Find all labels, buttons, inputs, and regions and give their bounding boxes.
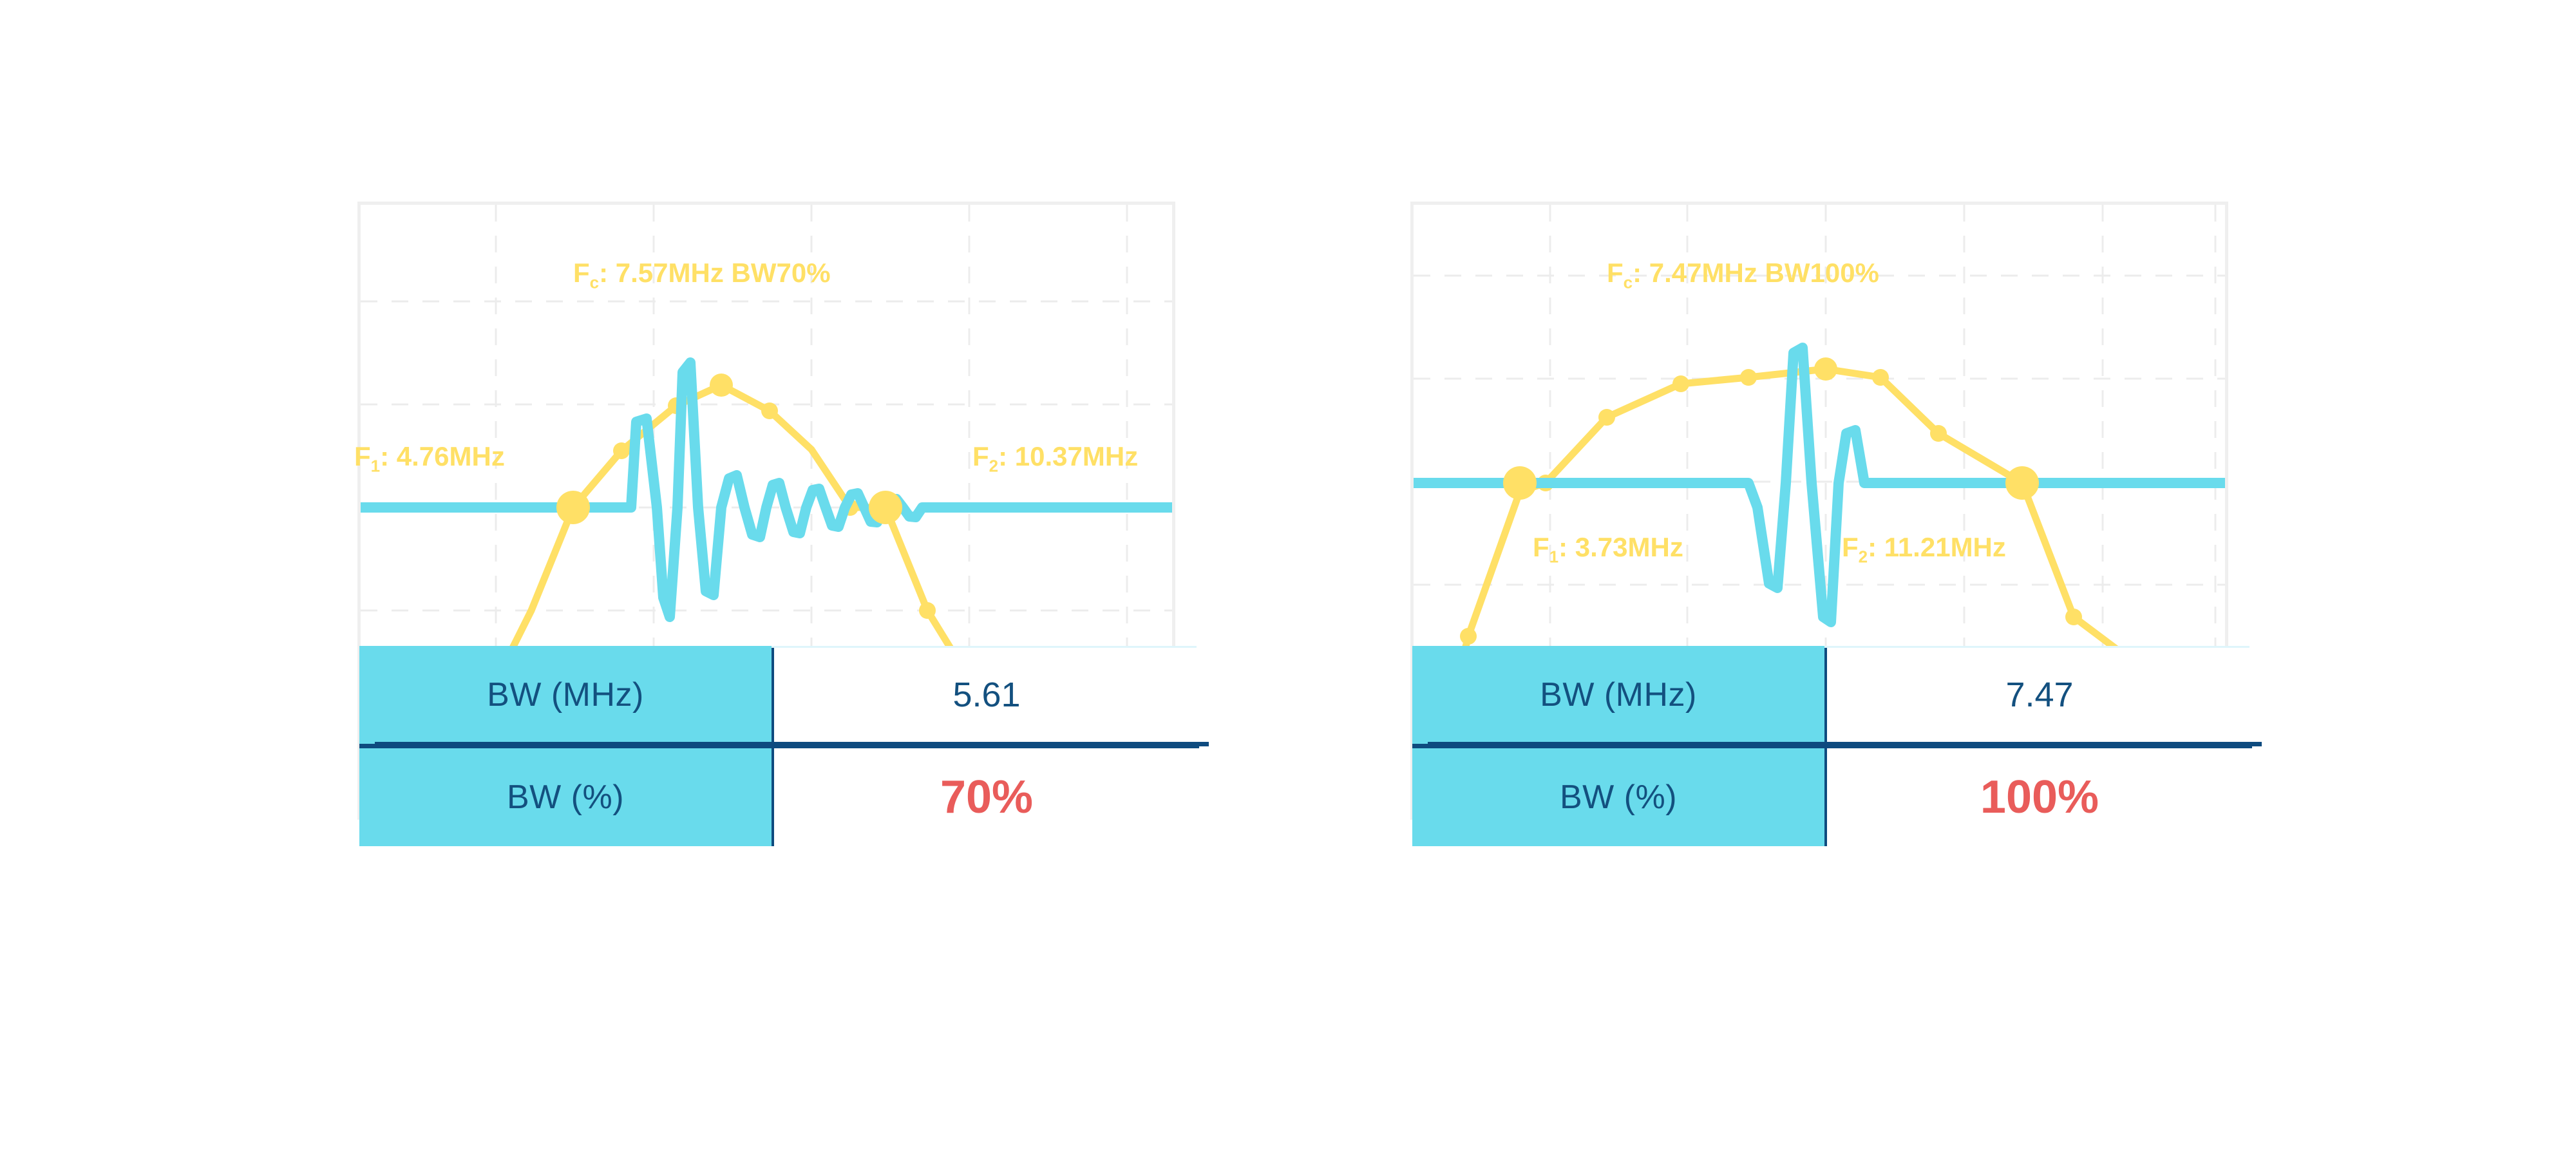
fc-annotation-right: Fc: 7.47MHz BW100% <box>1607 258 1879 292</box>
table-divider-rule <box>1428 742 2262 746</box>
bw-mhz-header: BW (MHz) <box>359 646 773 746</box>
f1-marker-dot <box>1503 466 1537 500</box>
bandwidth-table-right: BW (MHz) 7.47 BW (%) 100% <box>1412 646 2249 846</box>
bw-mhz-header: BW (MHz) <box>1412 646 1826 746</box>
table-top-hairline <box>772 646 1197 648</box>
table-divider-rule <box>375 742 1209 746</box>
f2-marker-dot <box>869 491 902 524</box>
f1-annotation-left: F1: 4.76MHz <box>354 441 505 476</box>
f2-value-text: : 10.37MHz <box>998 441 1138 471</box>
bw-pct-header: BW (%) <box>359 746 773 847</box>
f2-marker-dot <box>2005 466 2039 500</box>
fc-subscript: c <box>1624 272 1633 292</box>
f1-subscript: 1 <box>371 456 380 475</box>
f1-symbol: F <box>1533 532 1549 562</box>
table-row: BW (MHz) 7.47 <box>1412 646 2252 746</box>
table-row: BW (%) 100% <box>1412 746 2252 847</box>
bw-mhz-value: 5.61 <box>773 646 1199 746</box>
fc-symbol: F <box>1607 258 1624 288</box>
figure-canvas: Fc: 7.57MHz BW70% F1: 4.76MHz F2: 10.37M… <box>0 0 2576 1154</box>
f2-subscript: 2 <box>989 456 998 475</box>
fc-marker-dot <box>710 374 733 397</box>
fc-subscript: c <box>590 272 599 292</box>
fc-value-text: : 7.47MHz BW100% <box>1633 258 1879 288</box>
f2-symbol: F <box>1842 532 1859 562</box>
f1-symbol: F <box>354 441 371 471</box>
table-top-hairline <box>1824 646 2249 648</box>
table-row: BW (%) 70% <box>359 746 1199 847</box>
fc-symbol: F <box>573 258 590 288</box>
f2-subscript: 2 <box>1859 547 1868 566</box>
transducer-panel-right: Fc: 7.47MHz BW100% F1: 3.73MHz F2: 11.21… <box>1388 0 2289 1154</box>
f1-subscript: 1 <box>1549 547 1558 566</box>
fc-marker-dot <box>1814 357 1837 381</box>
f1-value-text: : 4.76MHz <box>380 441 505 471</box>
pulse-echo-waveform <box>361 363 1172 617</box>
f2-annotation-right: F2: 11.21MHz <box>1842 532 2006 567</box>
fc-annotation-left: Fc: 7.57MHz BW70% <box>573 258 831 292</box>
fc-value-text: : 7.57MHz BW70% <box>599 258 830 288</box>
f1-marker-dot <box>556 491 590 524</box>
f2-symbol: F <box>972 441 989 471</box>
bw-pct-header: BW (%) <box>1412 746 1826 847</box>
bandwidth-table-left: BW (MHz) 5.61 BW (%) 70% <box>359 646 1197 846</box>
f2-annotation-left: F2: 10.37MHz <box>972 441 1138 476</box>
transducer-panel-left: Fc: 7.57MHz BW70% F1: 4.76MHz F2: 10.37M… <box>335 0 1236 1154</box>
f2-value-text: : 11.21MHz <box>1868 532 2006 562</box>
bw-pct-value: 70% <box>773 746 1199 847</box>
bw-pct-value: 100% <box>1826 746 2252 847</box>
f1-value-text: : 3.73MHz <box>1558 532 1683 562</box>
bw-mhz-value: 7.47 <box>1826 646 2252 746</box>
f1-annotation-right: F1: 3.73MHz <box>1533 532 1683 567</box>
table-row: BW (MHz) 5.61 <box>359 646 1199 746</box>
